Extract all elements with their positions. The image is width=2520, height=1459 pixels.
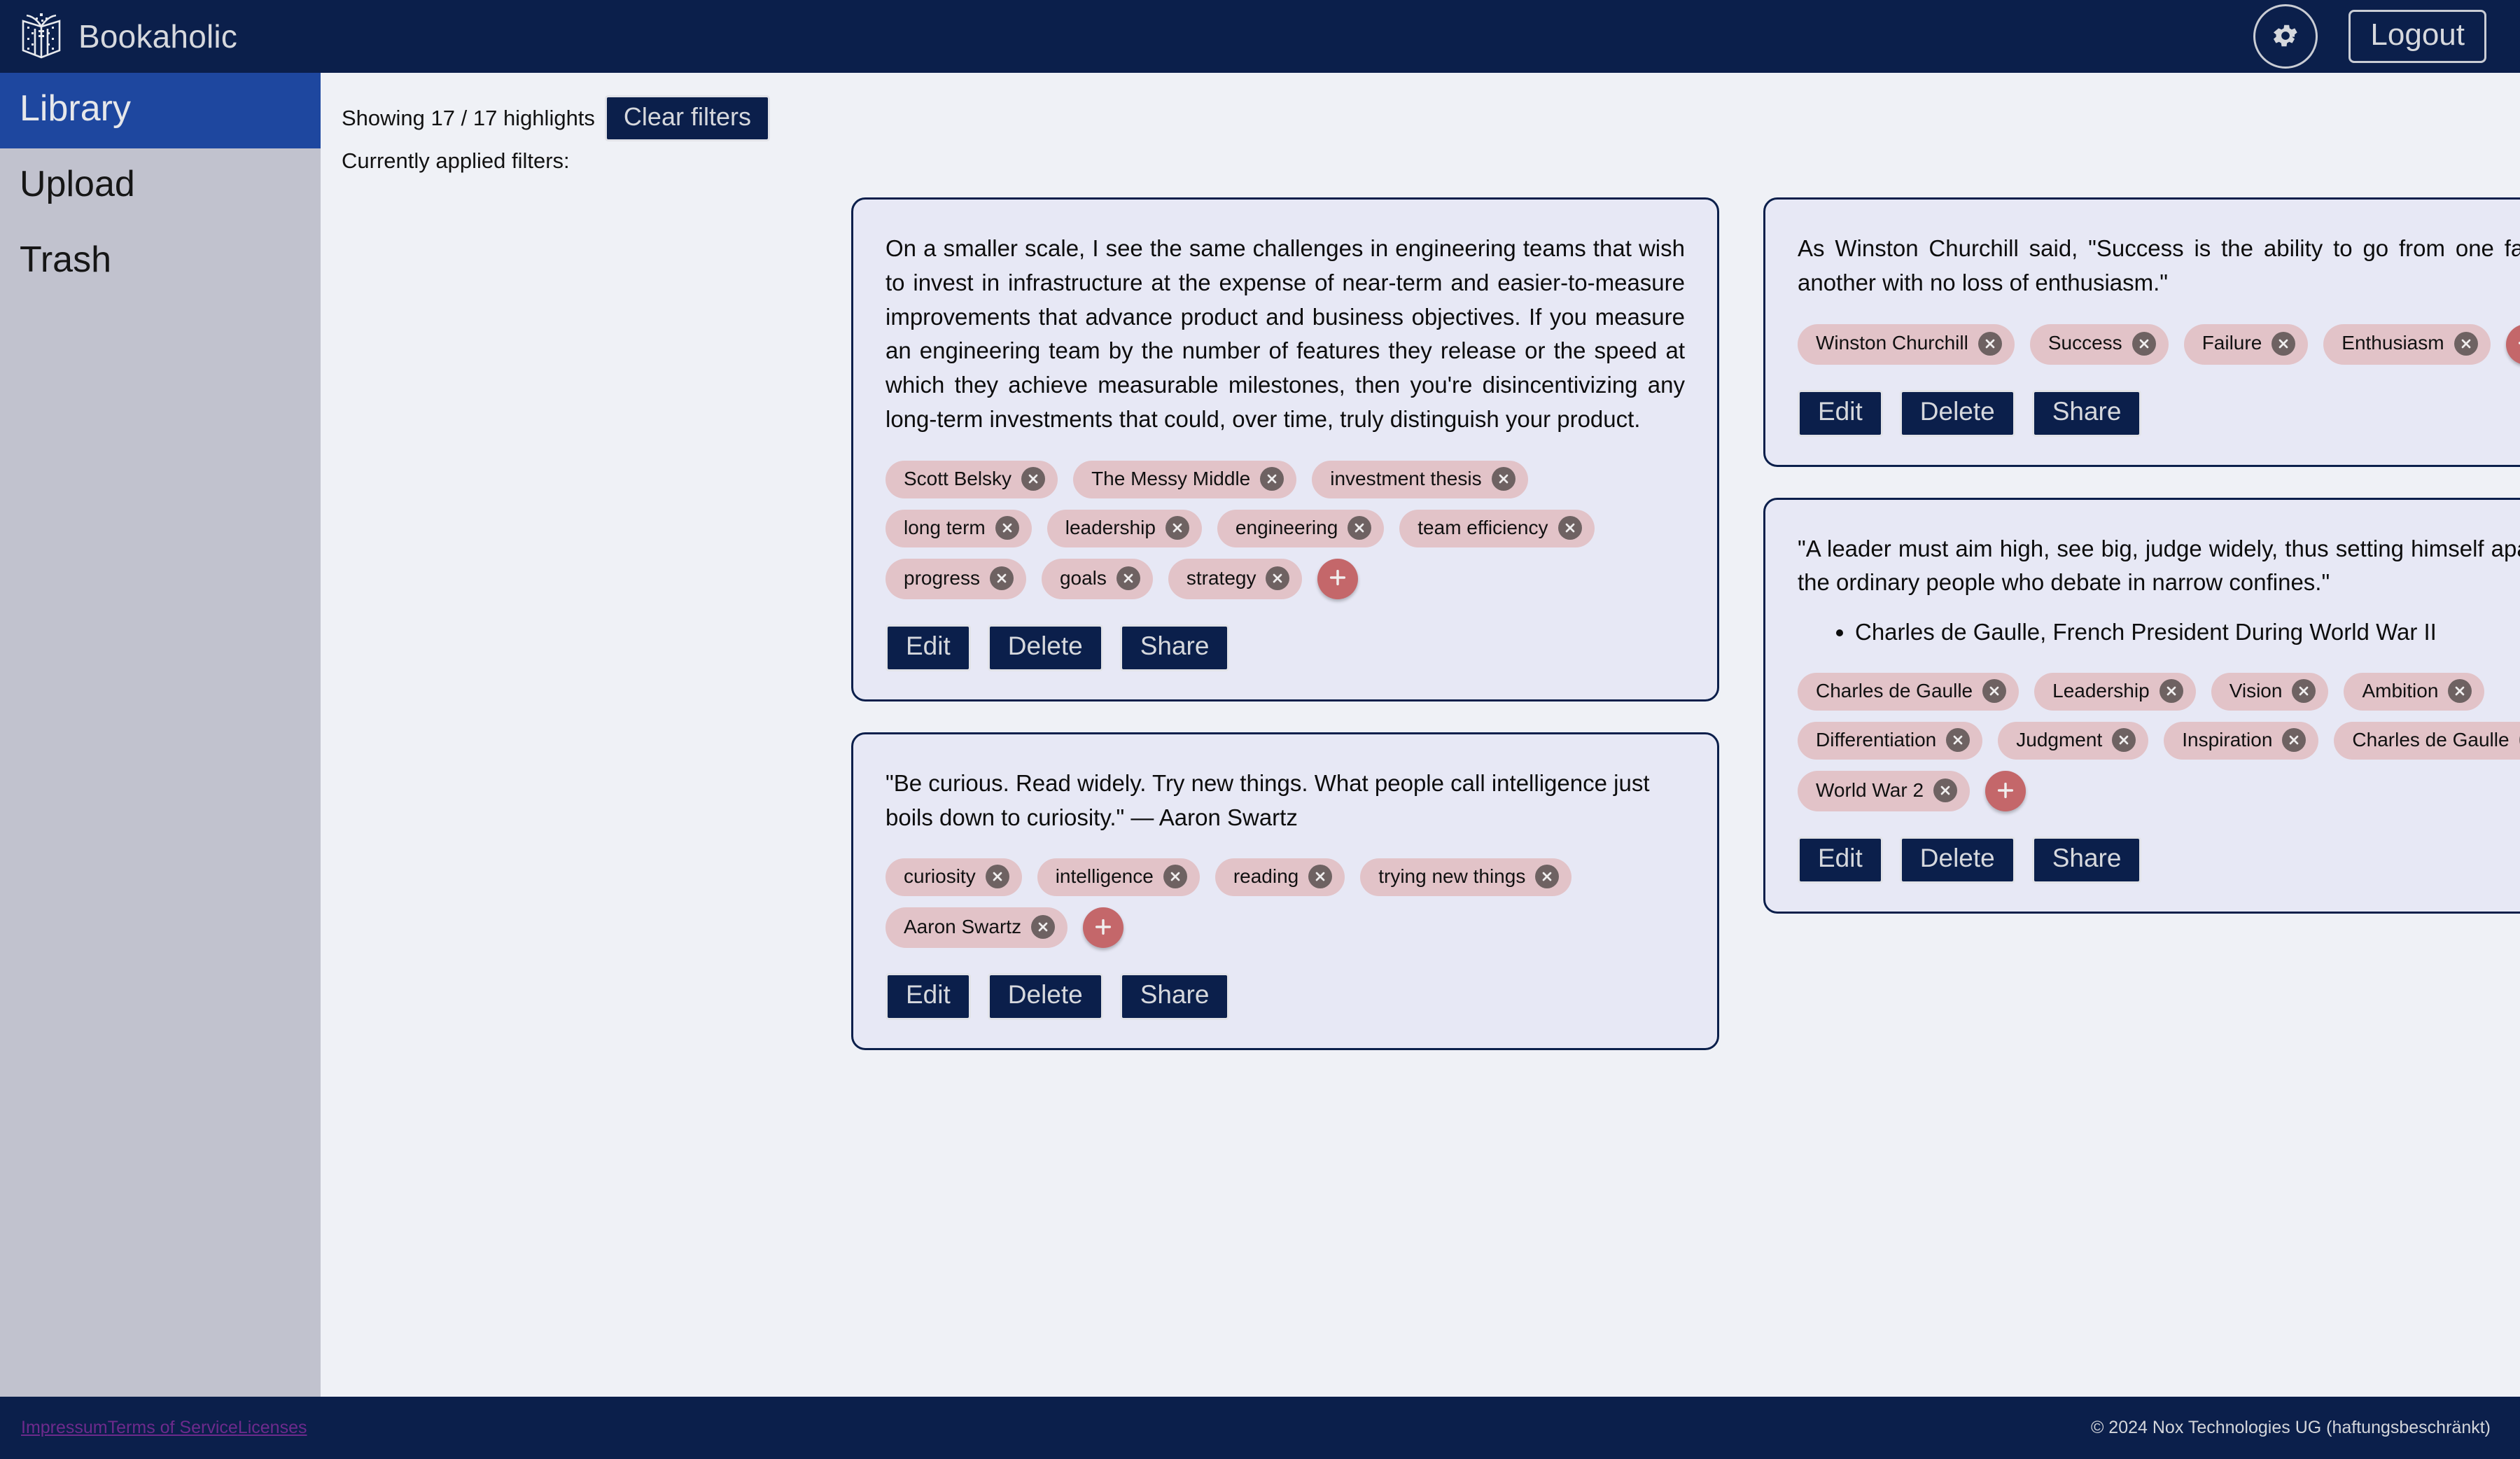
tag-chip[interactable]: Charles de Gaulle: [2334, 722, 2520, 760]
delete-button[interactable]: Delete: [1900, 837, 2015, 884]
delete-button[interactable]: Delete: [988, 624, 1103, 671]
app-header: Bookaholic Logout: [0, 0, 2520, 73]
tag-label: leadership: [1065, 517, 1156, 539]
close-circle-icon[interactable]: [1021, 467, 1045, 491]
close-circle-icon[interactable]: [1266, 566, 1289, 590]
share-button[interactable]: Share: [2032, 837, 2142, 884]
edit-button[interactable]: Edit: [1798, 390, 1883, 437]
tag-label: Vision: [2229, 680, 2283, 702]
close-circle-icon[interactable]: [2454, 332, 2478, 356]
gear-icon: [2270, 20, 2301, 53]
edit-button[interactable]: Edit: [885, 973, 971, 1020]
tag-label: engineering: [1235, 517, 1338, 539]
tag-chip[interactable]: Aaron Swartz: [885, 907, 1067, 948]
close-circle-icon[interactable]: [1163, 865, 1187, 888]
plus-icon: [1092, 916, 1114, 940]
edit-button[interactable]: Edit: [885, 624, 971, 671]
tag-label: investment thesis: [1330, 468, 1481, 490]
tag-chip[interactable]: Failure: [2184, 324, 2309, 365]
tag-label: curiosity: [904, 866, 976, 888]
tag-label: Winston Churchill: [1816, 333, 1968, 354]
tag-chip[interactable]: long term: [885, 510, 1032, 547]
tag-label: Charles de Gaulle: [1816, 680, 1973, 702]
brand-name: Bookaholic: [78, 18, 237, 55]
close-circle-icon[interactable]: [1347, 516, 1371, 540]
tag-label: Success: [2048, 333, 2122, 354]
tag-chip[interactable]: Winston Churchill: [1798, 324, 2015, 365]
tag-chip[interactable]: Inspiration: [2164, 722, 2318, 760]
tag-chip[interactable]: Leadership: [2034, 673, 2196, 711]
showing-count-text: Showing 17 / 17 highlights: [342, 106, 595, 131]
plus-icon: [1994, 779, 2017, 804]
add-tag-button[interactable]: [1083, 907, 1123, 948]
main-content: Showing 17 / 17 highlights Clear filters…: [321, 73, 2520, 1397]
tag-label: Failure: [2202, 333, 2262, 354]
card-actions: EditDeleteShare: [885, 624, 1685, 671]
card-actions: EditDeleteShare: [885, 973, 1685, 1020]
tag-label: Inspiration: [2182, 729, 2272, 751]
tag-chip[interactable]: Scott Belsky: [885, 461, 1058, 498]
tag-label: trying new things: [1378, 866, 1525, 888]
tag-chip[interactable]: Ambition: [2344, 673, 2484, 711]
plus-icon: [2515, 332, 2520, 356]
tag-label: progress: [904, 568, 980, 589]
close-circle-icon[interactable]: [1116, 566, 1140, 590]
tag-label: Judgment: [2016, 729, 2102, 751]
settings-button[interactable]: [2253, 4, 2318, 69]
close-circle-icon[interactable]: [1978, 332, 2002, 356]
card-actions: EditDeleteShare: [1798, 837, 2520, 884]
plus-icon: [1326, 566, 1349, 591]
delete-button[interactable]: Delete: [1900, 390, 2015, 437]
sidebar-item-trash[interactable]: Trash: [0, 224, 321, 300]
header-actions: Logout: [2253, 4, 2486, 69]
close-circle-icon[interactable]: [995, 516, 1019, 540]
tag-chip[interactable]: The Messy Middle: [1073, 461, 1296, 498]
tag-chip[interactable]: Charles de Gaulle: [1798, 673, 2019, 711]
highlight-attribution-list: Charles de Gaulle, French President Duri…: [1798, 615, 2520, 649]
tag-list: Winston ChurchillSuccessFailureEnthusias…: [1798, 324, 2520, 365]
tag-chip[interactable]: curiosity: [885, 858, 1022, 896]
tag-chip[interactable]: team efficiency: [1399, 510, 1594, 547]
close-circle-icon[interactable]: [1982, 679, 2006, 703]
sidebar-item-library[interactable]: Library: [0, 73, 321, 148]
body: Library Upload Trash Showing 17 / 17 hig…: [0, 73, 2520, 1397]
logout-button[interactable]: Logout: [2348, 10, 2486, 63]
close-circle-icon[interactable]: [1946, 728, 1970, 752]
tag-chip[interactable]: engineering: [1217, 510, 1384, 547]
footer-link-terms[interactable]: Terms of Service: [108, 1418, 238, 1438]
sidebar: Library Upload Trash: [0, 73, 321, 1397]
close-circle-icon[interactable]: [1933, 779, 1957, 802]
tag-chip[interactable]: goals: [1042, 559, 1153, 599]
tag-chip[interactable]: Enthusiasm: [2323, 324, 2490, 365]
close-circle-icon[interactable]: [2132, 332, 2156, 356]
tag-label: Leadership: [2052, 680, 2150, 702]
highlight-text: As Winston Churchill said, "Success is t…: [1798, 232, 2520, 300]
clear-filters-button[interactable]: Clear filters: [605, 95, 770, 141]
highlight-card: "Be curious. Read widely. Try new things…: [851, 732, 1719, 1051]
tag-list: Charles de GaulleLeadershipVisionAmbitio…: [1798, 673, 2520, 811]
tag-chip[interactable]: Judgment: [1998, 722, 2148, 760]
tag-chip[interactable]: leadership: [1047, 510, 1202, 547]
tag-chip[interactable]: Vision: [2211, 673, 2329, 711]
tag-label: The Messy Middle: [1091, 468, 1250, 490]
close-circle-icon[interactable]: [2448, 679, 2472, 703]
delete-button[interactable]: Delete: [988, 973, 1103, 1020]
close-circle-icon[interactable]: [1492, 467, 1515, 491]
tag-label: intelligence: [1056, 866, 1154, 888]
tag-label: Charles de Gaulle: [2352, 729, 2509, 751]
close-circle-icon[interactable]: [990, 566, 1014, 590]
tag-label: Ambition: [2362, 680, 2438, 702]
tag-chip[interactable]: World War 2: [1798, 771, 1970, 811]
open-book-icon: [18, 11, 64, 62]
close-circle-icon[interactable]: [1308, 865, 1332, 888]
footer-links: Impressum Terms of Service Licenses: [21, 1418, 307, 1438]
tag-chip[interactable]: Differentiation: [1798, 722, 1982, 760]
close-circle-icon[interactable]: [1260, 467, 1284, 491]
tag-list: Scott BelskyThe Messy Middleinvestment t…: [885, 461, 1685, 599]
highlights-column-left: On a smaller scale, I see the same chall…: [851, 197, 1719, 1050]
list-item: Charles de Gaulle, French President Duri…: [1855, 615, 2520, 649]
footer-link-licenses[interactable]: Licenses: [238, 1418, 307, 1438]
close-circle-icon[interactable]: [2282, 728, 2306, 752]
tag-list: curiosityintelligencereadingtrying new t…: [885, 858, 1685, 948]
close-circle-icon[interactable]: [2292, 679, 2316, 703]
tag-label: long term: [904, 517, 986, 539]
sidebar-item-upload[interactable]: Upload: [0, 148, 321, 224]
close-circle-icon[interactable]: [1535, 865, 1559, 888]
tag-label: Aaron Swartz: [904, 916, 1021, 938]
filter-summary-row: Showing 17 / 17 highlights Clear filters: [342, 95, 2520, 141]
add-tag-button[interactable]: [1317, 559, 1358, 599]
tag-chip[interactable]: trying new things: [1360, 858, 1571, 896]
share-button[interactable]: Share: [1120, 973, 1230, 1020]
tag-chip[interactable]: reading: [1215, 858, 1345, 896]
filter-bar: Showing 17 / 17 highlights Clear filters…: [321, 95, 2520, 174]
tag-chip[interactable]: Success: [2030, 324, 2169, 365]
edit-button[interactable]: Edit: [1798, 837, 1883, 884]
tag-label: goals: [1060, 568, 1107, 589]
close-circle-icon[interactable]: [986, 865, 1009, 888]
highlight-card: As Winston Churchill said, "Success is t…: [1763, 197, 2520, 467]
tag-label: Differentiation: [1816, 729, 1936, 751]
app-root: Bookaholic Logout Library Upload Trash S…: [0, 0, 2520, 1459]
close-circle-icon[interactable]: [1558, 516, 1582, 540]
tag-label: Scott Belsky: [904, 468, 1011, 490]
tag-label: reading: [1233, 866, 1298, 888]
tag-label: Enthusiasm: [2341, 333, 2444, 354]
tag-label: team efficiency: [1417, 517, 1548, 539]
highlight-text: "A leader must aim high, see big, judge …: [1798, 532, 2520, 601]
tag-label: World War 2: [1816, 780, 1924, 802]
close-circle-icon[interactable]: [2112, 728, 2136, 752]
tag-chip[interactable]: investment thesis: [1312, 461, 1527, 498]
tag-label: strategy: [1186, 568, 1256, 589]
footer-link-impressum[interactable]: Impressum: [21, 1418, 108, 1438]
tag-chip[interactable]: strategy: [1168, 559, 1303, 599]
highlight-text: On a smaller scale, I see the same chall…: [885, 232, 1685, 437]
brand: Bookaholic: [18, 11, 237, 62]
share-button[interactable]: Share: [2032, 390, 2142, 437]
highlights-column-right: As Winston Churchill said, "Success is t…: [1763, 197, 2520, 1050]
close-circle-icon[interactable]: [2271, 332, 2295, 356]
app-footer: Impressum Terms of Service Licenses © 20…: [0, 1397, 2520, 1459]
highlight-card: On a smaller scale, I see the same chall…: [851, 197, 1719, 701]
add-tag-button[interactable]: [2506, 324, 2520, 365]
highlights-grid: On a smaller scale, I see the same chall…: [847, 171, 2520, 1050]
applied-filters-label: Currently applied filters:: [342, 148, 2520, 174]
highlight-card: "A leader must aim high, see big, judge …: [1763, 498, 2520, 914]
close-circle-icon[interactable]: [2159, 679, 2183, 703]
highlight-text: "Be curious. Read widely. Try new things…: [885, 767, 1685, 835]
add-tag-button[interactable]: [1985, 771, 2026, 811]
close-circle-icon[interactable]: [1031, 915, 1055, 939]
card-actions: EditDeleteShare: [1798, 390, 2520, 437]
share-button[interactable]: Share: [1120, 624, 1230, 671]
tag-chip[interactable]: intelligence: [1037, 858, 1200, 896]
footer-copyright: © 2024 Nox Technologies UG (haftungsbesc…: [2091, 1418, 2491, 1438]
tag-chip[interactable]: progress: [885, 559, 1026, 599]
close-circle-icon[interactable]: [1165, 516, 1189, 540]
